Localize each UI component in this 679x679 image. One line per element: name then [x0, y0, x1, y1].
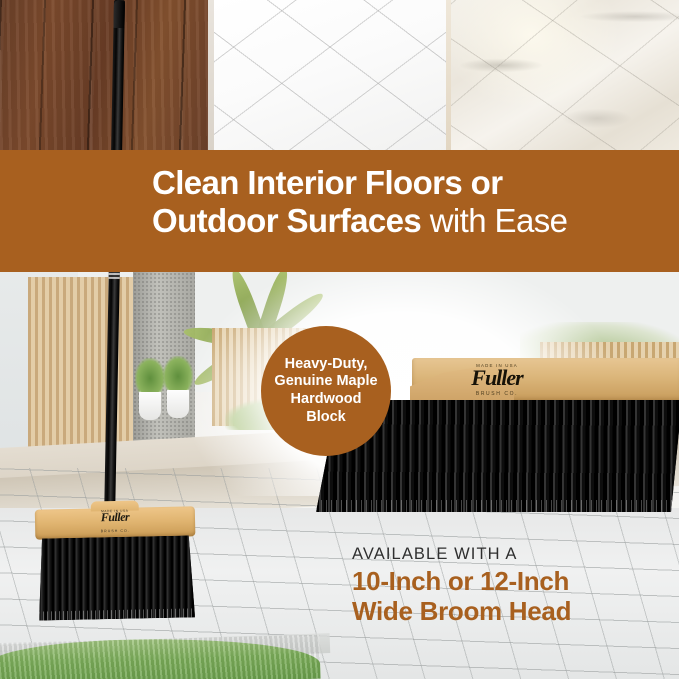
size-line-2: Wide Broom Head — [352, 596, 571, 626]
potted-plant — [135, 358, 165, 392]
headline-line-2-bold: Outdoor Surfaces — [152, 202, 421, 239]
planter-pot — [139, 390, 161, 420]
headline-banner: Clean Interior Floors or Outdoor Surface… — [0, 150, 679, 272]
fuller-brush-co-label: BRUSH CO. — [412, 391, 582, 397]
marble-floor-swatch — [451, 0, 679, 152]
size-line-1: 10-Inch or 12-Inch — [352, 566, 569, 596]
size-availability-copy: AVAILABLE WITH A 10-Inch or 12-Inch Wide… — [352, 545, 672, 626]
floor-type-strip — [0, 0, 679, 152]
headline-line-2-light: with Ease — [421, 202, 567, 239]
heavy-duty-callout-badge: Heavy-Duty, Genuine Maple Hardwood Block — [261, 326, 391, 456]
grass-lawn — [0, 635, 321, 679]
product-marketing-image: MADE IN USA Fuller BRUSH CO. MADE IN USA… — [0, 0, 679, 679]
size-options: 10-Inch or 12-Inch Wide Broom Head — [352, 566, 672, 626]
badge-label: Heavy-Duty, Genuine Maple Hardwood Block — [261, 326, 391, 456]
fuller-brand-logo: Fuller — [412, 367, 582, 389]
availability-eyebrow: AVAILABLE WITH A — [352, 545, 672, 564]
white-tile-floor-swatch — [214, 0, 446, 152]
headline: Clean Interior Floors or Outdoor Surface… — [152, 164, 669, 241]
headline-text-block: Clean Interior Floors or Outdoor Surface… — [152, 164, 669, 241]
small-broom-head: MADE IN USA Fuller BRUSH CO. — [35, 506, 197, 627]
hardwood-floor-swatch — [0, 0, 208, 152]
headline-line-1: Clean Interior Floors or — [152, 164, 503, 201]
pole-cap — [113, 0, 125, 28]
broom-bristles — [37, 535, 195, 620]
planter-pot — [167, 388, 189, 418]
